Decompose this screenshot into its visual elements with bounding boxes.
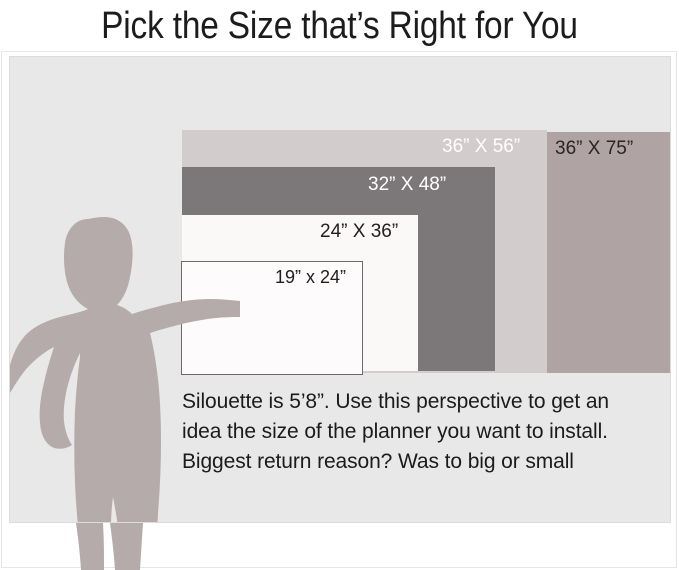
size-swatch-36x75[interactable]: [547, 132, 671, 373]
caption-text: Silouette is 5’8”. Use this perspective …: [182, 387, 662, 477]
infographic-canvas: Pick the Size that’s Right for You 36” X…: [0, 0, 679, 570]
caption-line-2: idea the size of the planner you want to…: [182, 417, 662, 447]
size-label-19x24: 19” x 24”: [275, 267, 346, 288]
page-title: Pick the Size that’s Right for You: [41, 0, 639, 52]
wall-panel: 36” X 75” 36” X 56” 32” X 48” 24” X 36” …: [9, 56, 671, 523]
size-label-36x56: 36” X 56”: [442, 136, 520, 158]
caption-line-3: Biggest return reason? Was to big or sma…: [182, 447, 662, 477]
size-label-24x36: 24” X 36”: [320, 221, 398, 243]
person-silhouette-lower-icon: [0, 523, 230, 570]
size-label-32x48: 32” X 48”: [368, 174, 446, 196]
size-label-36x75: 36” X 75”: [555, 138, 633, 160]
caption-line-1: Silouette is 5’8”. Use this perspective …: [182, 387, 662, 417]
